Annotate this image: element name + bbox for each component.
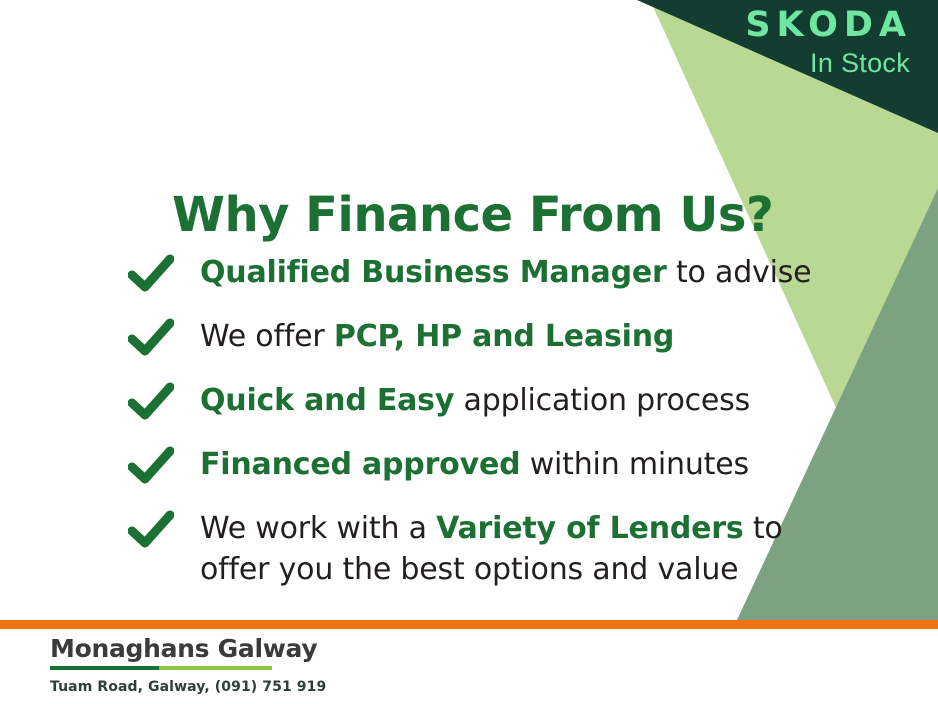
page-title: Why Finance From Us? — [172, 187, 773, 243]
underline-light-segment — [159, 666, 272, 670]
skoda-brand-lockup: SKODA In Stock — [745, 8, 912, 77]
dealer-address: Tuam Road, Galway, (091) 751 919 — [50, 679, 326, 695]
benefit-highlight: Variety of Lenders — [436, 511, 743, 546]
poster-canvas: SKODA In Stock Why Finance From Us? Qual… — [0, 0, 938, 704]
benefit-text: Quick and Easy application process — [200, 380, 750, 421]
benefit-plain: to advise — [667, 255, 812, 290]
orange-divider — [0, 620, 938, 629]
underline-dark-segment — [50, 666, 159, 670]
check-icon — [128, 510, 174, 550]
benefit-text: We offer PCP, HP and Leasing — [200, 316, 674, 357]
benefit-text: Qualified Business Manager to advise — [200, 252, 811, 293]
dealer-footer: Monaghans Galway Tuam Road, Galway, (091… — [50, 634, 326, 695]
benefit-highlight: PCP, HP and Leasing — [334, 319, 674, 354]
benefits-list: Qualified Business Manager to adviseWe o… — [128, 252, 828, 590]
check-icon — [128, 254, 174, 294]
benefit-plain: We offer — [200, 319, 334, 354]
benefit-highlight: Quick and Easy — [200, 383, 454, 418]
check-icon — [128, 382, 174, 422]
check-icon — [128, 446, 174, 486]
benefit-item: Financed approved within minutes — [128, 444, 828, 486]
benefit-highlight: Qualified Business Manager — [200, 255, 667, 290]
benefit-item: Qualified Business Manager to advise — [128, 252, 828, 294]
benefit-item: We offer PCP, HP and Leasing — [128, 316, 828, 358]
benefit-plain: within minutes — [520, 447, 749, 482]
skoda-in-stock-label: In Stock — [745, 50, 910, 77]
dealer-underline — [50, 666, 272, 670]
benefit-item: Quick and Easy application process — [128, 380, 828, 422]
skoda-wordmark: SKODA — [745, 8, 912, 43]
benefit-text: We work with a Variety of Lenders to off… — [200, 508, 828, 590]
benefit-item: We work with a Variety of Lenders to off… — [128, 508, 828, 590]
benefit-plain: application process — [454, 383, 750, 418]
benefit-highlight: Financed approved — [200, 447, 520, 482]
benefit-text: Financed approved within minutes — [200, 444, 749, 485]
check-icon — [128, 318, 174, 358]
benefit-plain: We work with a — [200, 511, 436, 546]
dealer-name: Monaghans Galway — [50, 634, 317, 664]
